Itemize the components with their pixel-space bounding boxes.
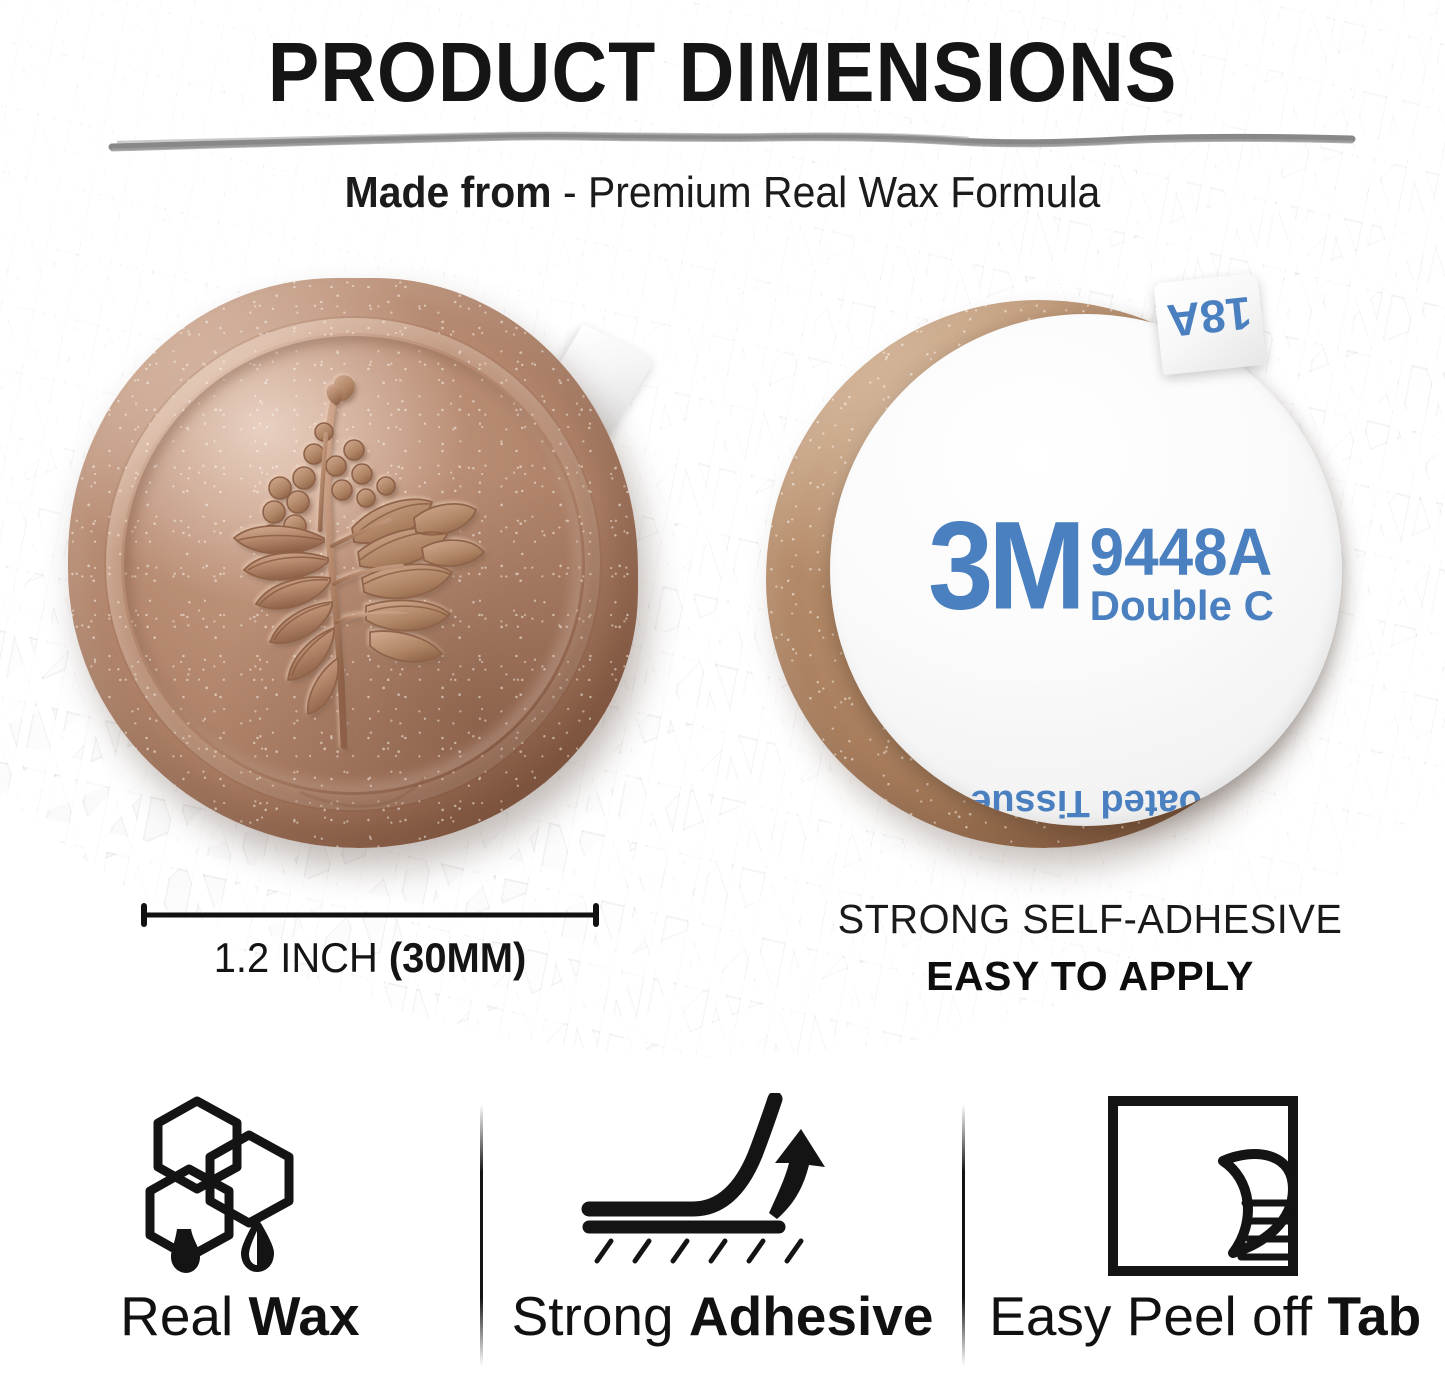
dimension-mm-label: (30MM) bbox=[389, 934, 526, 981]
feature-label-real-wax: Real Wax bbox=[120, 1284, 359, 1348]
adhesive-caption: STRONG SELF-ADHESIVE EASY TO APPLY bbox=[740, 896, 1440, 1000]
adhesive-description: Double C bbox=[1090, 584, 1274, 628]
peel-tab-code: 18A bbox=[1155, 285, 1264, 350]
3m-logo-text: 3M bbox=[928, 510, 1081, 623]
feature-label-regular: Real bbox=[120, 1285, 248, 1347]
dimension-measure-line bbox=[140, 902, 600, 928]
wax-seal-back-image: 3M 9448A Double C oated Tissue 18A bbox=[752, 282, 1392, 882]
feature-easy-peel-tab: Easy Peel off Tab bbox=[965, 1092, 1445, 1378]
honeycomb-wax-drip-icon bbox=[145, 1092, 335, 1280]
dimension-caption: 1.2 INCH (30MM) bbox=[19, 934, 722, 982]
adhesive-caption-line2: EASY TO APPLY bbox=[740, 953, 1440, 1000]
feature-label-regular: Easy Peel off bbox=[989, 1285, 1327, 1347]
feature-real-wax: Real Wax bbox=[0, 1092, 480, 1378]
adhesive-disc: 3M 9448A Double C oated Tissue bbox=[830, 314, 1342, 826]
adhesive-caption-line1: STRONG SELF-ADHESIVE bbox=[751, 896, 1430, 943]
botanical-branch-motif bbox=[176, 370, 532, 762]
feature-row: Real Wax Strong Adhesive bbox=[0, 1092, 1445, 1378]
feature-label-easy-peel-tab: Easy Peel off Tab bbox=[989, 1284, 1421, 1348]
adhesive-code-block: 9448A Double C bbox=[1090, 510, 1274, 628]
subtitle-bold-part: Made from bbox=[345, 168, 552, 217]
feature-label-strong-adhesive: Strong Adhesive bbox=[512, 1284, 934, 1348]
feature-label-bold: Wax bbox=[249, 1285, 360, 1347]
page-title: PRODUCT DIMENSIONS bbox=[58, 24, 1387, 121]
feature-label-regular: Strong bbox=[512, 1285, 689, 1347]
adhesive-brand-row: 3M 9448A Double C bbox=[830, 510, 1342, 628]
wax-seal-front-image bbox=[58, 258, 698, 878]
feature-label-bold: Adhesive bbox=[689, 1285, 934, 1347]
peel-tab-right: 18A bbox=[1153, 273, 1266, 375]
square-peel-corner-icon bbox=[1105, 1092, 1305, 1280]
feature-label-bold: Tab bbox=[1328, 1285, 1422, 1347]
feature-strong-adhesive: Strong Adhesive bbox=[483, 1092, 963, 1378]
dimension-inch-label: 1.2 INCH bbox=[214, 934, 389, 981]
adhesive-bottom-text: oated Tissue bbox=[830, 781, 1342, 824]
adhesive-product-code: 9448A bbox=[1090, 520, 1274, 587]
page-subtitle: Made from - Premium Real Wax Formula bbox=[51, 168, 1395, 218]
subtitle-regular-part: - Premium Real Wax Formula bbox=[552, 168, 1101, 217]
peeling-tape-arrow-icon bbox=[573, 1092, 873, 1280]
title-underline-stroke bbox=[108, 128, 1356, 154]
